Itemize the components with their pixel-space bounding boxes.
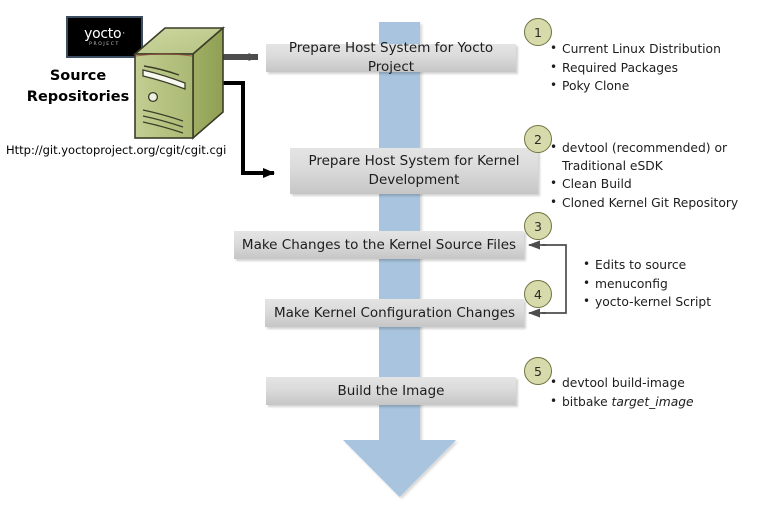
list-item: Poky Clone	[550, 78, 765, 96]
list-item: Current Linux Distribution	[550, 41, 765, 59]
list-item: devtool (recommended) or Traditional eSD…	[550, 140, 762, 175]
step-circle-3: 3	[524, 212, 552, 240]
step-circle-4: 4	[524, 280, 552, 308]
process-box-prepare-host-kernel[interactable]: Prepare Host System for Kernel Developme…	[290, 148, 538, 194]
step-circle-1: 1	[524, 18, 552, 46]
list-item-text: bitbake	[562, 395, 612, 409]
source-repositories-label: Source Repositories	[12, 66, 144, 108]
list-item: devtool build-image	[550, 375, 750, 393]
notes-step-2: devtool (recommended) or Traditional eSD…	[550, 140, 762, 213]
source-label-line-1: Source	[12, 66, 144, 87]
list-item: Edits to source	[583, 257, 763, 275]
notes-step-1: Current Linux Distribution Required Pack…	[550, 41, 765, 97]
list-item-emphasis: target_image	[612, 395, 694, 409]
process-box-build-image[interactable]: Build the Image	[266, 377, 516, 405]
list-item-text: devtool build-image	[562, 376, 685, 390]
process-box-prepare-host-yocto[interactable]: Prepare Host System for Yocto Project	[266, 44, 516, 72]
process-box-make-kernel-config-changes[interactable]: Make Kernel Configuration Changes	[265, 299, 524, 327]
list-item: bitbake target_image	[550, 394, 750, 412]
notes-step-3-4: Edits to source menuconfig yocto-kernel …	[583, 257, 763, 313]
step-circle-2: 2	[524, 125, 552, 153]
logo-dot: ·	[122, 29, 125, 39]
step-circle-5: 5	[524, 357, 552, 385]
logo-wordmark: yocto·	[84, 27, 125, 41]
list-item: Cloned Kernel Git Repository	[550, 195, 762, 213]
server-tower-icon	[131, 26, 227, 140]
list-item: Clean Build	[550, 176, 762, 194]
source-label-line-2: Repositories	[12, 87, 144, 108]
logo-subtitle: PROJECT	[89, 42, 120, 47]
notes-step-5: devtool build-image bitbake target_image	[550, 375, 750, 412]
diagram-canvas: yocto· PROJECT Source Repositories Http:…	[0, 0, 769, 517]
list-item: yocto-kernel Script	[583, 294, 763, 312]
process-box-make-kernel-source-changes[interactable]: Make Changes to the Kernel Source Files	[234, 231, 524, 259]
list-item: menuconfig	[583, 276, 763, 294]
list-item: Required Packages	[550, 60, 765, 78]
source-repository-url: Http://git.yoctoproject.org/cgit/cgit.cg…	[6, 143, 231, 157]
logo-wordmark-text: yocto	[84, 26, 121, 42]
